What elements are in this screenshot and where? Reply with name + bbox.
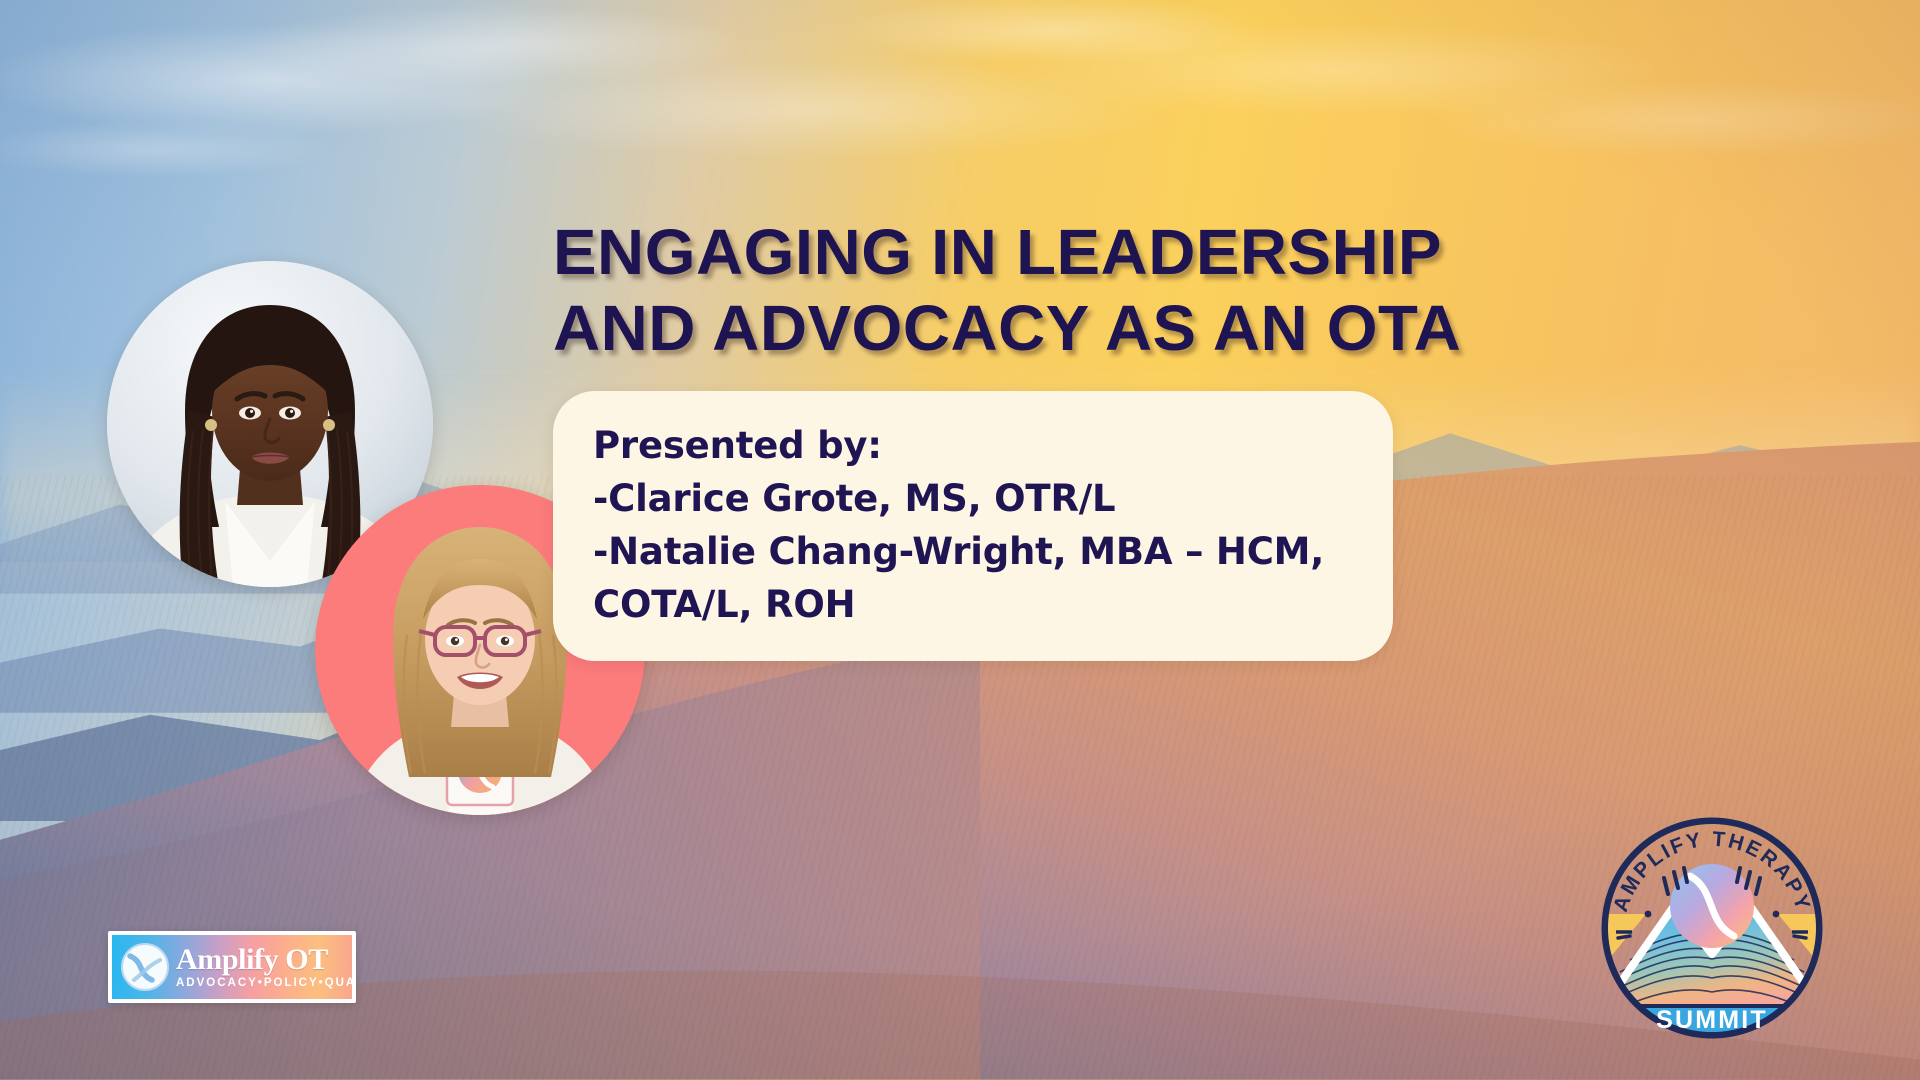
amplify-ot-logo: Amplify OT ADVOCACY•POLICY•QUALITY	[108, 931, 356, 1003]
presenter-name-1: -Clarice Grote, MS, OTR/L	[593, 472, 1353, 525]
slide-title-line-2: AND ADVOCACY AS AN OTA	[553, 290, 1430, 366]
amplify-ot-tagline: ADVOCACY•POLICY•QUALITY	[176, 976, 352, 990]
amplify-ot-wordmark: Amplify OT	[176, 945, 352, 975]
presenter-name-2-credentials: COTA/L, ROH	[593, 578, 1353, 631]
presented-by-label: Presented by:	[593, 419, 1353, 472]
badge-summit-label: SUMMIT	[1656, 1006, 1768, 1034]
presenter-card: Presented by: -Clarice Grote, MS, OTR/L …	[553, 391, 1393, 661]
presenter-name-2: -Natalie Chang-Wright, MBA – HCM,	[593, 525, 1353, 578]
amplify-wave-icon	[118, 940, 172, 994]
slide-title-line-1: ENGAGING IN LEADERSHIP	[553, 214, 1430, 290]
amplify-therapy-summit-badge: AMPLIFY THERAPY SUMMIT	[1594, 810, 1830, 1046]
slide-canvas: ENGAGING IN LEADERSHIP AND ADVOCACY AS A…	[0, 0, 1920, 1080]
slide-title: ENGAGING IN LEADERSHIP AND ADVOCACY AS A…	[553, 214, 1413, 366]
